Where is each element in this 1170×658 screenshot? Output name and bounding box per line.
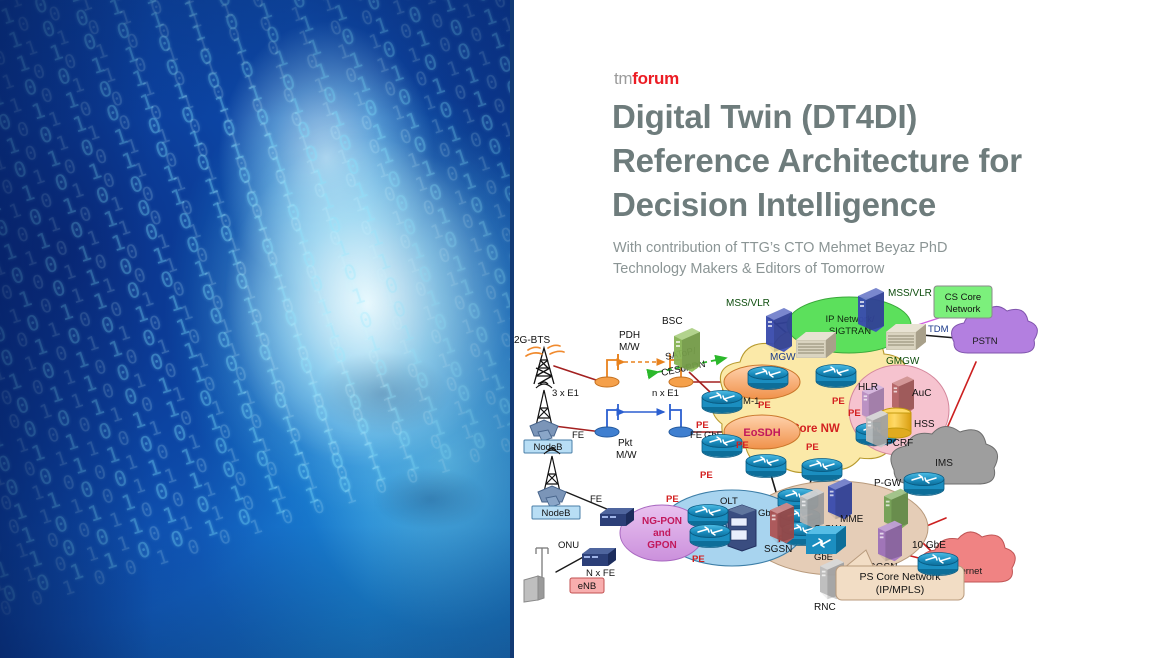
pe-router-metro-1 <box>690 525 730 548</box>
pe-router-4 <box>816 365 856 388</box>
cover-content: tmforum Digital Twin (DT4DI) Reference A… <box>514 0 1170 658</box>
pe-router-9 <box>688 505 728 528</box>
pkt-label-1: Pkt <box>618 438 633 449</box>
gmgw-label: GMGW <box>886 356 920 367</box>
onu-label: ONU <box>558 540 579 551</box>
e1-3x-label: 3 x E1 <box>552 388 579 399</box>
fe-left-label: FE <box>572 430 584 441</box>
pe-label-5: PE <box>848 408 861 419</box>
pdh-label-2: M/W <box>619 342 640 353</box>
enb-label: eNB <box>578 581 596 592</box>
ngpon-line-3: GPON <box>647 540 676 551</box>
pstn-label: PSTN <box>972 336 997 347</box>
pe-label-2: PE <box>700 470 713 481</box>
pe-router-6 <box>746 455 786 478</box>
cs-core-network-box: CS Core Network <box>934 286 992 318</box>
cs-core-line-1: CS Core <box>945 292 981 303</box>
pe-label-9: PE <box>666 494 679 505</box>
gmgw-rack: GMGW TDM <box>886 324 949 367</box>
access-box-nodeb <box>600 508 634 526</box>
mme-label: MME <box>840 514 864 525</box>
eosdh-label: EoSDH <box>743 427 780 439</box>
mss-vlr-right-label: MSS/VLR <box>888 288 932 299</box>
pe-label-6: PE <box>736 440 749 451</box>
logo-tm-text: tm <box>614 69 632 88</box>
fe-right-label: FE <box>690 430 702 441</box>
rnc-label: RNC <box>814 602 836 610</box>
pe-router-7 <box>802 459 842 482</box>
ims-label: IMS <box>935 458 953 469</box>
pgw-label: P-GW <box>874 478 902 489</box>
ngpon-line-1: NG-PON <box>642 516 682 527</box>
pe-router-1 <box>702 391 742 414</box>
page-title: Digital Twin (DT4DI) Reference Architect… <box>612 95 1092 227</box>
cs-core-line-2: Network <box>946 304 981 315</box>
tdm-label: TDM <box>928 324 949 335</box>
gbe10-label: 10 GbE <box>912 540 946 551</box>
2g-bts-tower: 2G-BTS 3 x E1 <box>514 335 579 399</box>
title-line-1: Digital Twin (DT4DI) <box>612 95 1092 139</box>
bts-2g-label: 2G-BTS <box>514 335 550 346</box>
pe-label-4: PE <box>832 396 845 407</box>
pe-label-3: PE <box>758 400 771 411</box>
olt-label: OLT <box>720 496 738 507</box>
pdh-label-1: PDH <box>619 330 640 341</box>
pcrf-label: PCRF <box>886 438 913 449</box>
mgw-label: MGW <box>770 352 796 363</box>
subtitle-line-2: Technology Makers & Editors of Tomorrow <box>613 259 1083 280</box>
sgsn-label: SGSN <box>764 544 792 555</box>
fe-nodeb2-label: FE <box>590 494 602 505</box>
cover-background-gradient <box>0 0 510 658</box>
pe-router-3 <box>748 367 788 390</box>
subtitle-line-1: With contribution of TTG’s CTO Mehmet Be… <box>613 238 1083 259</box>
pe-label-metro-1: PE <box>692 554 705 565</box>
mss-vlr-left-label: MSS/VLR <box>726 298 770 309</box>
cover-page: 0 1 0 0 1 1 0 1 0 0 1 0 1 1 0 0 1 0 1 0 … <box>0 0 1170 658</box>
cover-image: 0 1 0 0 1 1 0 1 0 0 1 0 1 1 0 0 1 0 1 0 … <box>0 0 514 658</box>
network-architecture-diagram: IP/MPLS Core NW Metro Ethernet IP/MPLS I… <box>514 280 1170 610</box>
title-line-2: Reference Architecture for <box>612 139 1092 183</box>
nodeb-bottom: NodeB FE <box>532 448 602 519</box>
pe-label-7: PE <box>806 442 819 453</box>
nodeb-bottom-label: NodeB <box>541 508 570 519</box>
bsc-label: BSC <box>662 316 683 327</box>
ps-core-switch <box>806 526 846 554</box>
access-box-onu <box>582 548 616 566</box>
page-subtitle: With contribution of TTG’s CTO Mehmet Be… <box>613 238 1083 280</box>
internet-router <box>918 553 958 576</box>
title-line-3: Decision Intelligence <box>612 183 1092 227</box>
ps-core-label-2: (IP/MPLS) <box>876 584 924 596</box>
e1-nx-label: n x E1 <box>652 388 679 399</box>
nxfe-label: N x FE <box>586 568 615 579</box>
pe-label-1: PE <box>696 420 709 431</box>
hss-label: HSS <box>914 419 935 430</box>
logo-forum-text: forum <box>632 69 679 88</box>
tmforum-logo: tmforum <box>614 70 679 87</box>
hlr-label: HLR <box>858 382 878 393</box>
ims-router <box>904 473 944 496</box>
auc-label: AuC <box>912 388 931 399</box>
pkt-label-2: M/W <box>616 450 637 461</box>
ngpon-line-2: and <box>653 528 671 539</box>
